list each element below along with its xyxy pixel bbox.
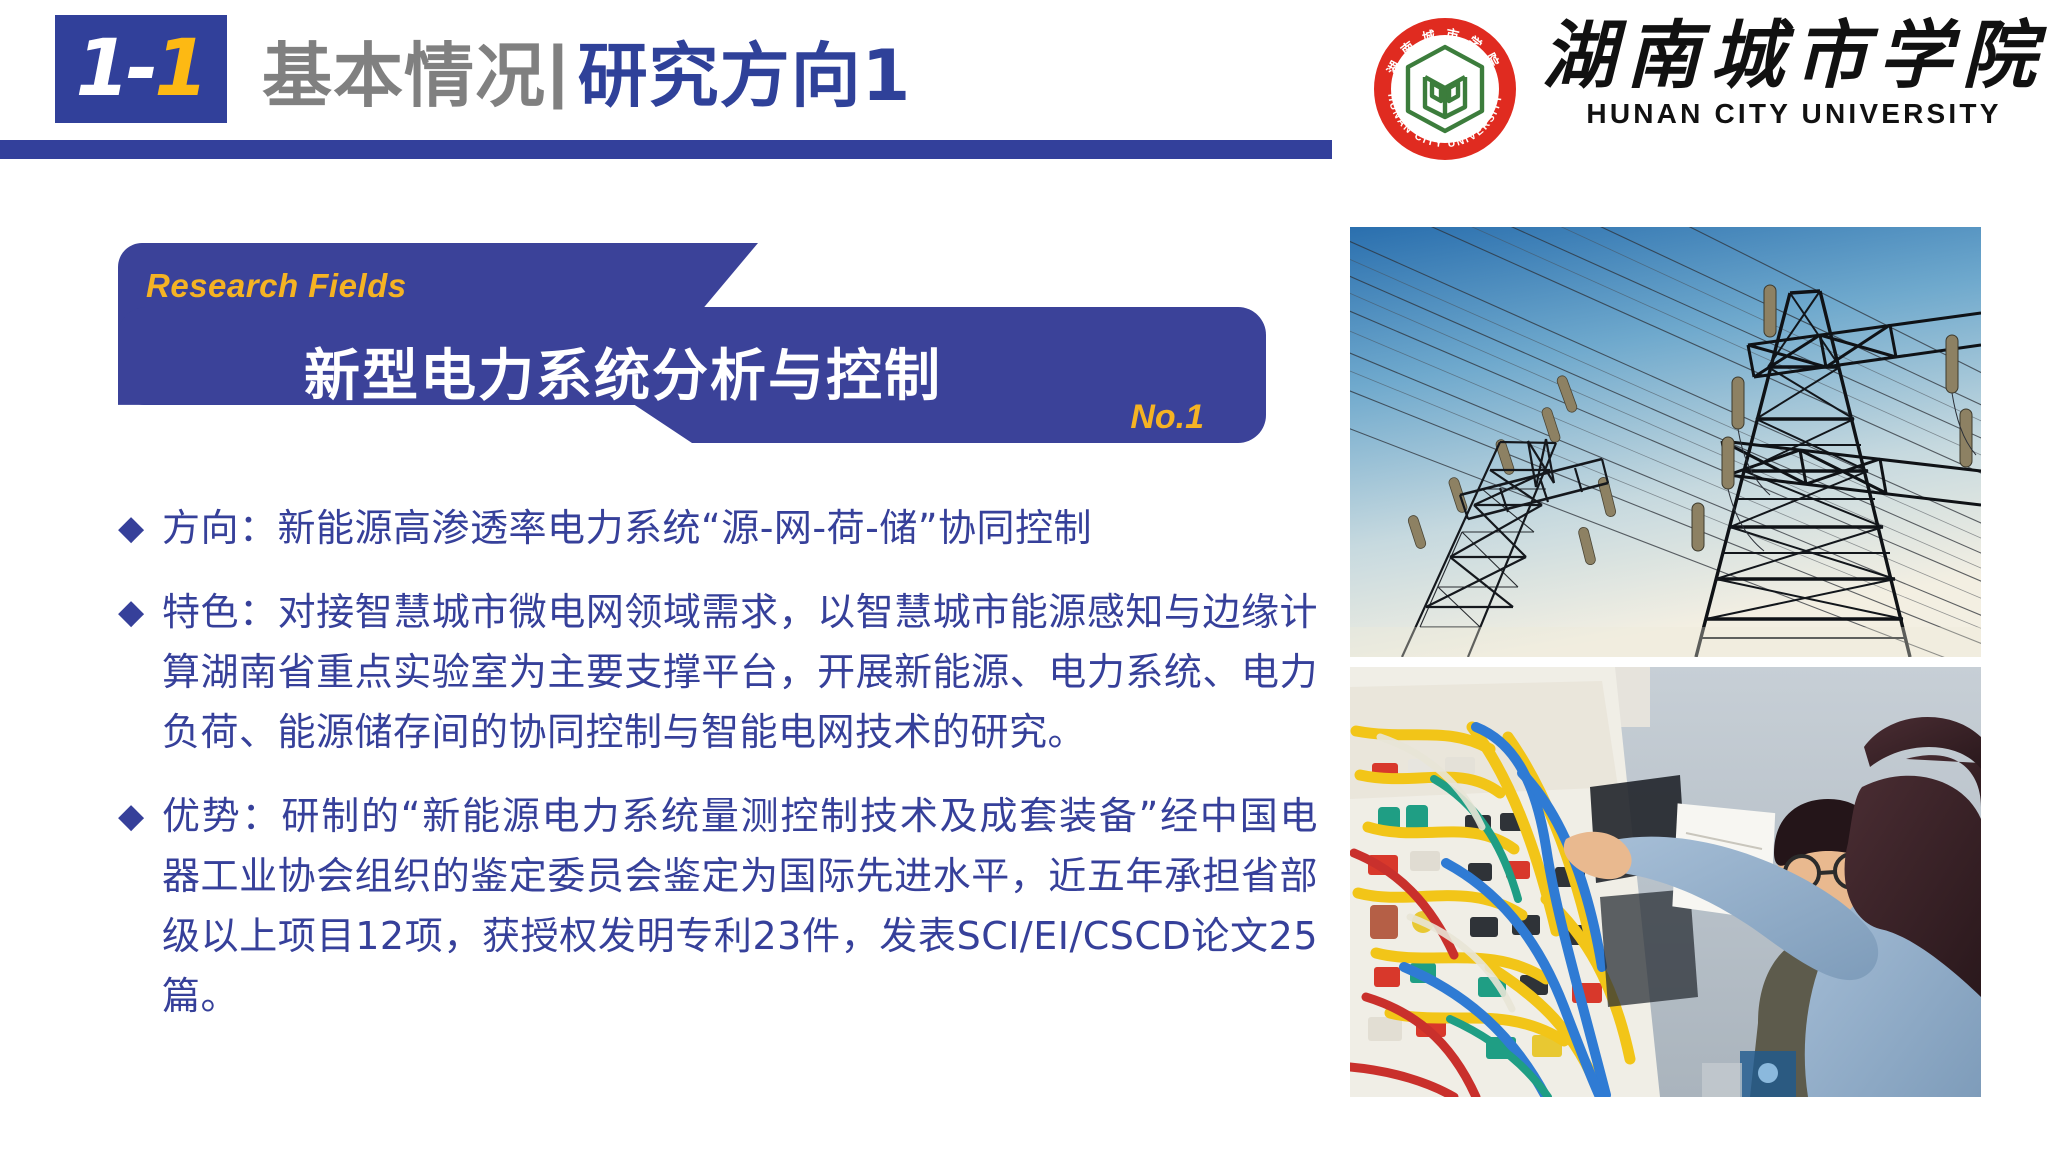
university-wordmark: 湖南城市学院 HUNAN CITY UNIVERSITY	[1542, 14, 2046, 130]
wordmark-english: HUNAN CITY UNIVERSITY	[1586, 98, 2001, 130]
banner-heading: 新型电力系统分析与控制	[118, 331, 1128, 412]
university-seal-icon: HUNAN CITY UNIVERSITY 湖南城市学院	[1370, 14, 1520, 164]
page-title-sub: 研究方向1	[578, 20, 912, 121]
list-item: ◆ 方向：新能源高渗透率电力系统“源-网-荷-储”协同控制	[118, 498, 1318, 558]
badge-digit-first: 1	[76, 30, 128, 108]
list-item: ◆ 优势：研制的“新能源电力系统量测控制技术及成套装备”经中国电器工业协会组织的…	[118, 786, 1318, 1026]
list-item-text: 方向：新能源高渗透率电力系统“源-网-荷-储”协同控制	[162, 498, 1318, 558]
header-divider-bar	[0, 140, 1332, 159]
page-title-separator: |	[548, 30, 568, 110]
list-item-text: 特色：对接智慧城市微电网领域需求，以智慧城市能源感知与边缘计算湖南省重点实验室为…	[162, 582, 1318, 762]
photo-students-electrical-lab-panel	[1350, 667, 1981, 1097]
badge-digit-second: 1	[154, 30, 206, 108]
list-item-text: 优势：研制的“新能源电力系统量测控制技术及成套装备”经中国电器工业协会组织的鉴定…	[162, 786, 1318, 1026]
research-fields-banner: Research Fields 新型电力系统分析与控制 No.1	[118, 243, 1266, 443]
page-title: 基本情况 | 研究方向1	[262, 22, 911, 118]
diamond-bullet-icon: ◆	[118, 786, 162, 846]
banner-eyebrow-label: Research Fields	[146, 267, 407, 305]
section-number-badge: 1 - 1	[55, 15, 227, 123]
banner-number-label: No.1	[1130, 398, 1204, 437]
university-logo: HUNAN CITY UNIVERSITY 湖南城市学院 湖南城市学院	[1370, 14, 2030, 176]
list-item: ◆ 特色：对接智慧城市微电网领域需求，以智慧城市能源感知与边缘计算湖南省重点实验…	[118, 582, 1318, 762]
diamond-bullet-icon: ◆	[118, 498, 162, 558]
badge-dash: -	[126, 30, 156, 108]
page-title-main: 基本情况	[262, 20, 546, 121]
seal-hexagon-emblem-icon	[1403, 43, 1487, 135]
photo-power-transmission-towers	[1350, 227, 1981, 657]
research-bullet-list: ◆ 方向：新能源高渗透率电力系统“源-网-荷-储”协同控制 ◆ 特色：对接智慧城…	[118, 498, 1318, 1050]
diamond-bullet-icon: ◆	[118, 582, 162, 642]
wordmark-chinese: 湖南城市学院	[1542, 18, 2046, 96]
slide-canvas: 1 - 1 基本情况 | 研究方向1 HUNAN CITY UNIVERSITY…	[0, 0, 2048, 1152]
